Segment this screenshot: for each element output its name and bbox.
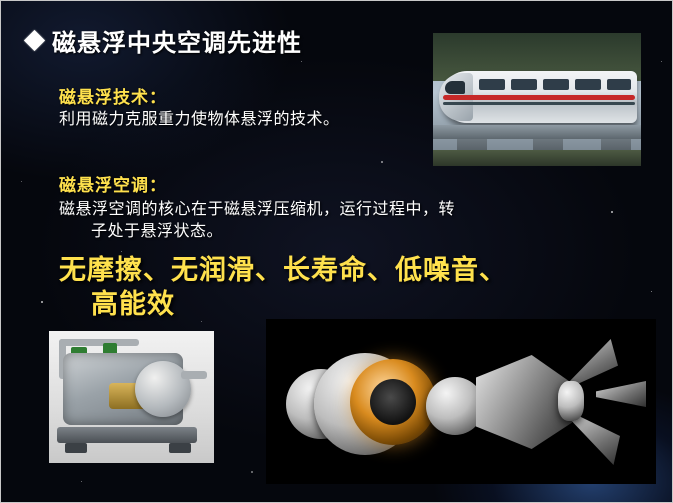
highlight-line1: 无摩擦、无润滑、长寿命、低噪音、: [59, 255, 507, 285]
maglev-train-photo: [433, 33, 641, 166]
section-2-body-line1: 磁悬浮空调的核心在于磁悬浮压缩机，运行过程中，转: [59, 201, 455, 218]
page-title: 磁悬浮中央空调先进性: [52, 23, 302, 58]
section-1-body: 利用磁力克服重力使物体悬浮的技术。: [59, 109, 340, 131]
section-2-body: 磁悬浮空调的核心在于磁悬浮压缩机，运行过程中，转 子处于悬浮状态。: [59, 199, 579, 243]
compressor-unit-photo: [49, 331, 214, 463]
highlight-line2: 高能效: [91, 287, 599, 321]
section-1-heading: 磁悬浮技术：: [59, 83, 167, 108]
diamond-bullet-icon: [24, 30, 45, 51]
presentation-slide: 磁悬浮中央空调先进性 磁悬浮技术： 利用磁力克服重力使物体悬浮的技术。 磁悬浮空…: [0, 0, 673, 503]
magnetic-bearing-rotor-photo: [266, 319, 656, 484]
section-2-body-line2: 子处于悬浮状态。: [91, 221, 579, 243]
section-2-heading: 磁悬浮空调：: [59, 171, 167, 196]
highlight-text: 无摩擦、无润滑、长寿命、低噪音、 高能效: [59, 253, 599, 321]
slide-title-row: 磁悬浮中央空调先进性: [27, 23, 302, 58]
